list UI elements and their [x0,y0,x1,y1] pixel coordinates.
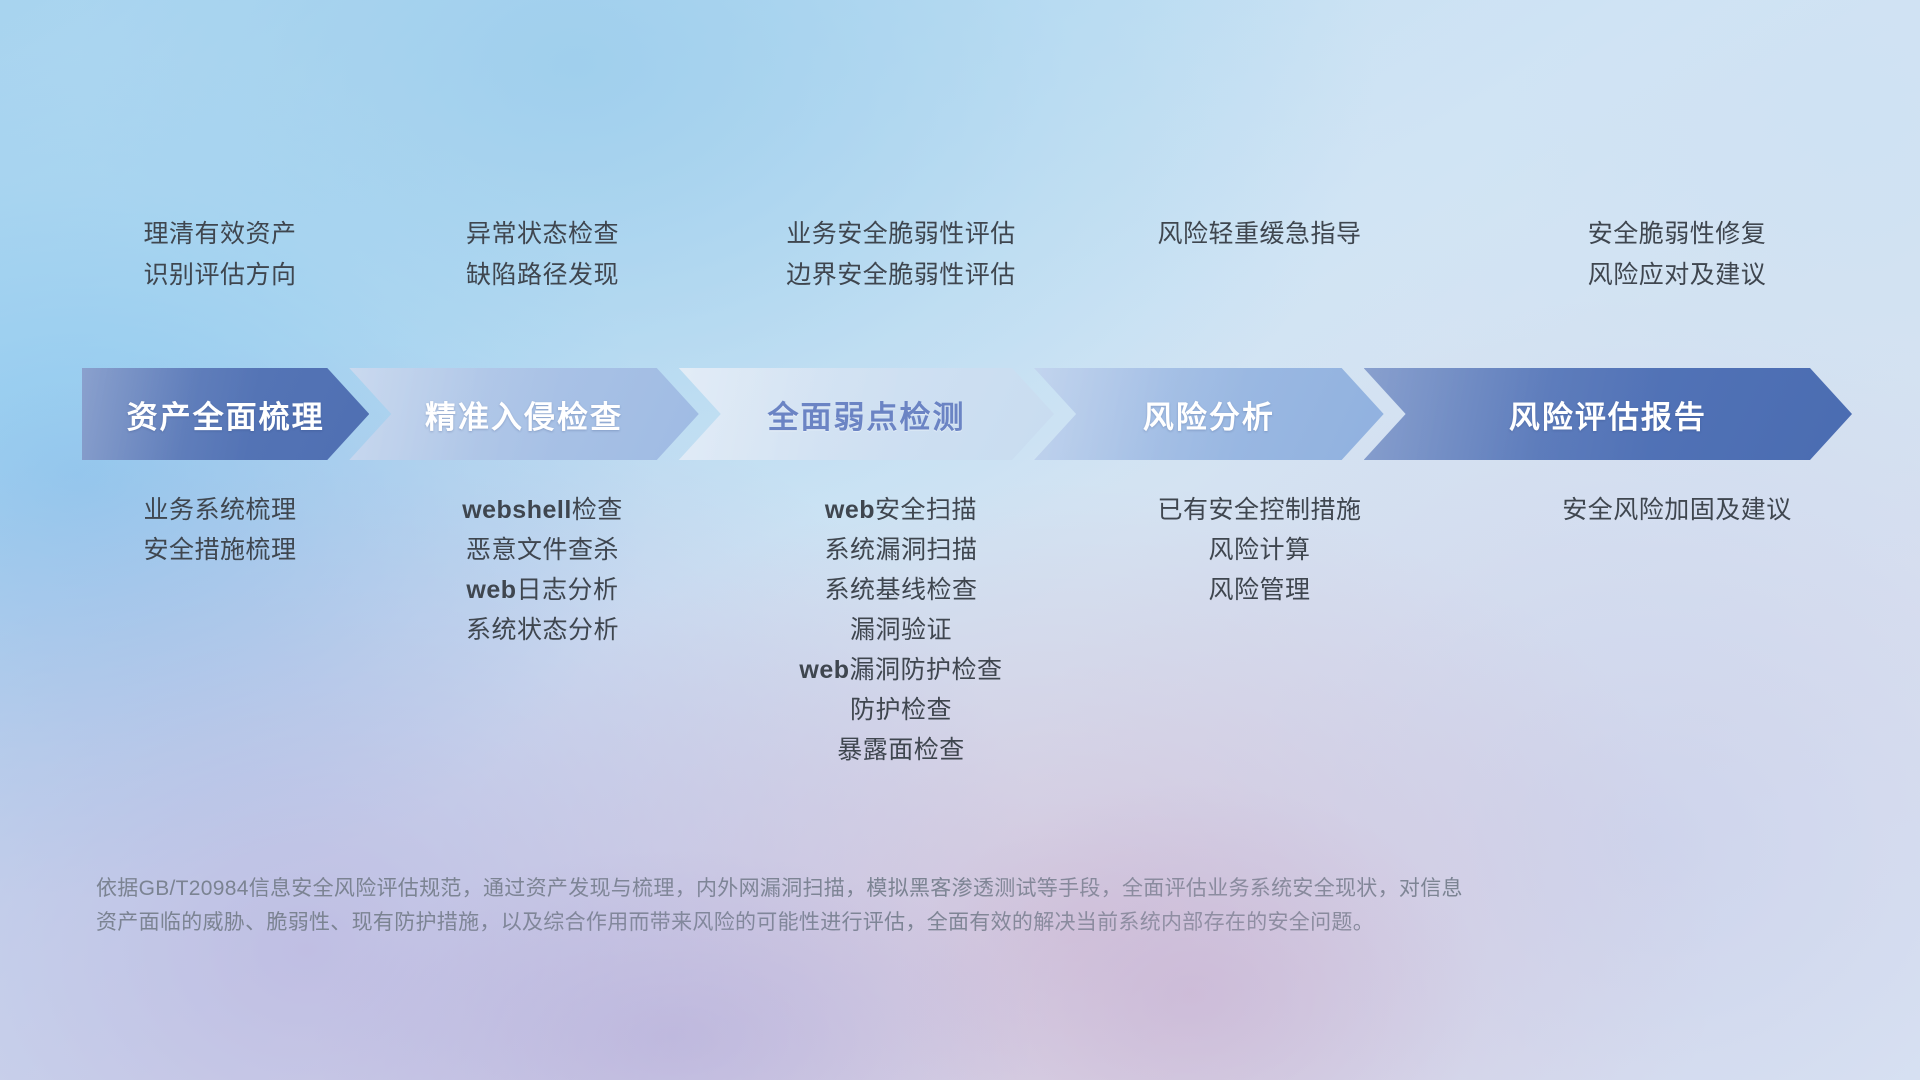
process-stage-3[interactable]: 全面弱点检测 [679,368,1054,460]
stage-item-text: 漏洞防护检查 [850,656,1003,684]
stage-item: 漏洞验证 [850,618,952,643]
stage-item: web漏洞防护检查 [799,658,1002,683]
stage-item-list-2: webshell检查恶意文件查杀web日志分析系统状态分析 [370,498,715,763]
stage-item-list-3: web安全扫描系统漏洞扫描系统基线检查漏洞验证web漏洞防护检查防护检查暴露面检… [715,498,1087,763]
stage-item: web安全扫描 [825,498,977,523]
stage-item: 风险管理 [1208,578,1310,603]
top-label: 风险轻重缓急指导 [1157,222,1361,247]
footer-line-2: 资产面临的威胁、脆弱性、现有防护措施，以及综合作用而带来风险的可能性进行评估，全… [96,906,1736,940]
process-stage-label: 精准入侵检查 [425,392,623,437]
top-label-group-1: 理清有效资产识别评估方向 [70,222,370,332]
process-stage-4[interactable]: 风险分析 [1034,368,1384,460]
bottom-items-row: 业务系统梳理安全措施梳理webshell检查恶意文件查杀web日志分析系统状态分… [70,498,1860,763]
stage-item-text: 检查 [572,496,623,524]
stage-item-text: 安全扫描 [875,496,977,524]
stage-item: 业务系统梳理 [143,498,296,523]
stage-item-text: 日志分析 [517,576,619,604]
process-stage-label: 资产全面梳理 [127,392,325,437]
process-stage-label: 全面弱点检测 [767,392,965,437]
top-label: 识别评估方向 [143,263,296,288]
stage-item: webshell检查 [462,498,623,523]
stage-item: 安全风险加固及建议 [1562,498,1792,523]
stage-item: web日志分析 [466,578,618,603]
stage-item-list-1: 业务系统梳理安全措施梳理 [70,498,370,763]
footer-description: 依据GB/T20984信息安全风险评估规范，通过资产发现与梳理，内外网漏洞扫描，… [96,872,1736,940]
process-stage-1[interactable]: 资产全面梳理 [82,368,369,460]
process-stage-2[interactable]: 精准入侵检查 [349,368,699,460]
top-labels-row: 理清有效资产识别评估方向异常状态检查缺陷路径发现业务安全脆弱性评估边界安全脆弱性… [70,222,1860,332]
top-label-group-5: 安全脆弱性修复风险应对及建议 [1432,222,1920,332]
slide-canvas: 理清有效资产识别评估方向异常状态检查缺陷路径发现业务安全脆弱性评估边界安全脆弱性… [0,0,1920,1080]
stage-item-keyword: web [799,656,849,684]
top-label-group-2: 异常状态检查缺陷路径发现 [370,222,715,332]
process-stage-label: 风险分析 [1143,392,1275,437]
stage-item-keyword: web [825,496,875,524]
top-label-group-4: 风险轻重缓急指导 [1087,222,1432,332]
top-label: 安全脆弱性修复 [1588,222,1767,247]
process-stage-label: 风险评估报告 [1509,392,1707,437]
stage-item: 系统状态分析 [466,618,619,643]
stage-item: 已有安全控制措施 [1157,498,1361,523]
top-label: 业务安全脆弱性评估 [786,222,1016,247]
top-label: 异常状态检查 [466,222,619,247]
top-label-group-3: 业务安全脆弱性评估边界安全脆弱性评估 [715,222,1087,332]
stage-item: 系统漏洞扫描 [824,538,977,563]
process-chevron-band: 资产全面梳理精准入侵检查全面弱点检测风险分析风险评估报告 [82,368,1852,460]
stage-item: 系统基线检查 [824,578,977,603]
stage-item: 暴露面检查 [837,738,965,763]
footer-line-1: 依据GB/T20984信息安全风险评估规范，通过资产发现与梳理，内外网漏洞扫描，… [96,872,1736,906]
stage-item-list-5: 安全风险加固及建议 [1432,498,1920,763]
top-label: 理清有效资产 [143,222,296,247]
stage-item: 防护检查 [850,698,952,723]
stage-item-list-4: 已有安全控制措施风险计算风险管理 [1087,498,1432,763]
stage-item: 风险计算 [1208,538,1310,563]
stage-item-keyword: webshell [462,496,572,524]
top-label: 缺陷路径发现 [466,263,619,288]
stage-item: 恶意文件查杀 [466,538,619,563]
stage-item: 安全措施梳理 [143,538,296,563]
stage-item-keyword: web [466,576,516,604]
process-stage-5[interactable]: 风险评估报告 [1364,368,1852,460]
top-label: 边界安全脆弱性评估 [786,263,1016,288]
top-label: 风险应对及建议 [1588,263,1767,288]
